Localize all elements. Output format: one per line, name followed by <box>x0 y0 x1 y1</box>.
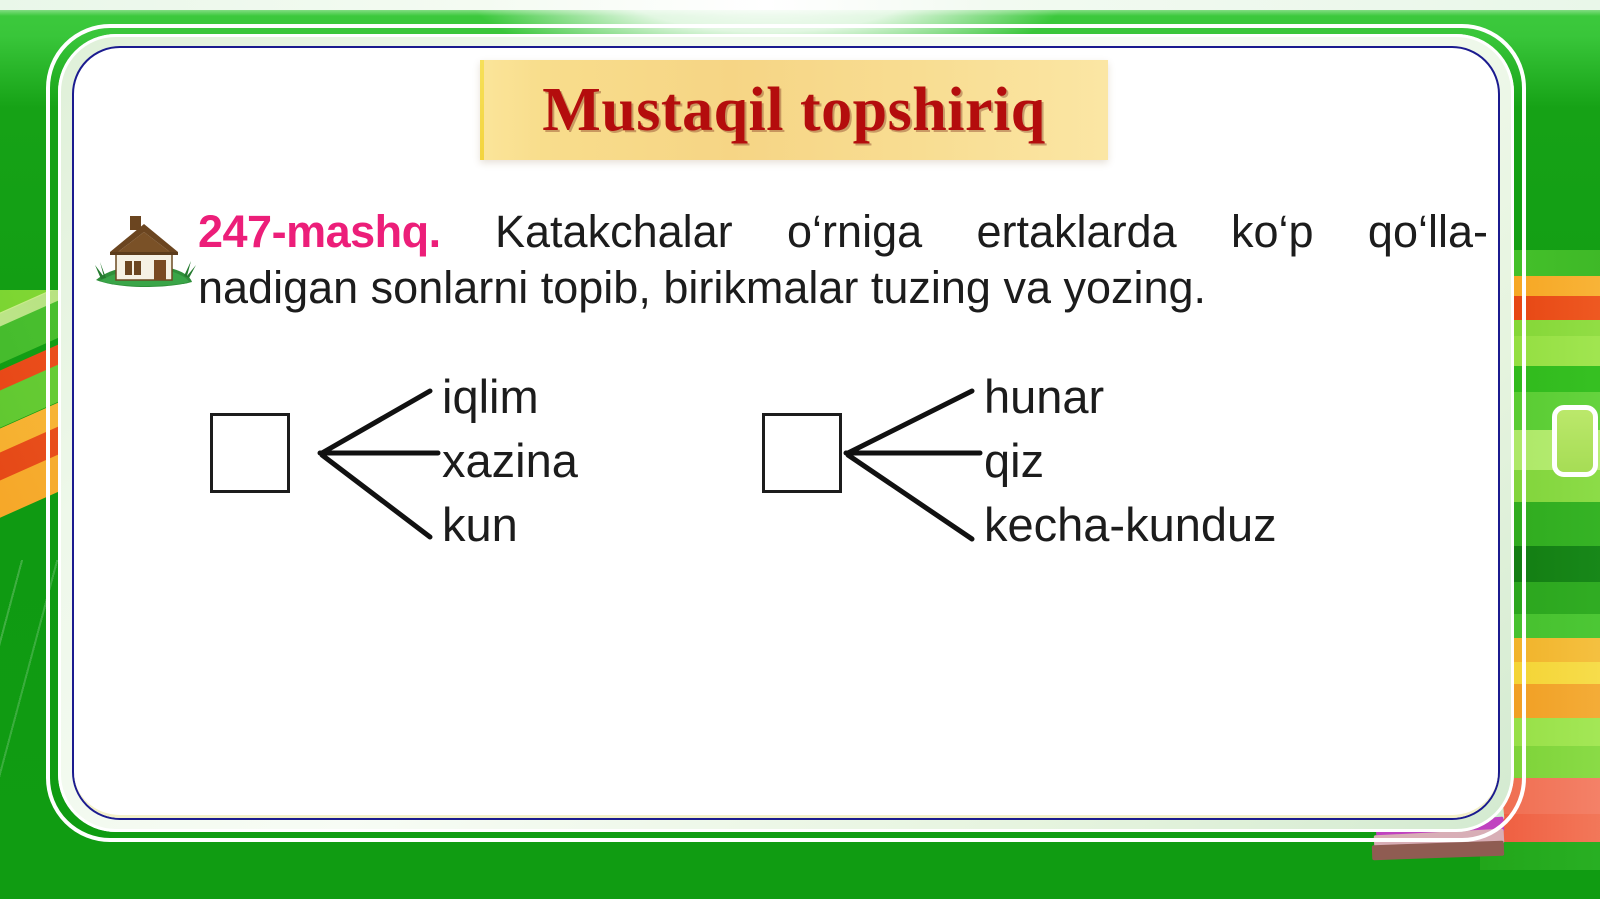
word-right-2: qiz <box>984 437 1044 484</box>
word-right-1: hunar <box>984 373 1104 420</box>
word-left-3: kun <box>442 501 518 548</box>
page-title: Mustaqil topshiriq <box>480 79 1108 141</box>
word-left-2: xazina <box>442 437 578 484</box>
slide-canvas: Mustaqil topshiriq <box>0 0 1600 899</box>
diagram-group-left: iqlim xazina kun <box>202 359 702 574</box>
exercise-line-2: nadigan sonlarni topib, birikmalar tuzin… <box>198 260 1488 316</box>
house-icon <box>92 208 196 294</box>
exercise-line-1: 247-mashq. Katakchalar o‘rniga ertaklard… <box>198 204 1488 260</box>
exercise-text-block: 247-mashq. Katakchalar o‘rniga ertaklard… <box>198 204 1488 316</box>
diagram-group-right: hunar qiz kecha-kunduz <box>754 359 1374 574</box>
fan-connector-left <box>202 359 452 574</box>
fan-connector-right <box>754 359 994 574</box>
exercise-number: 247-mashq. <box>198 206 441 257</box>
word-left-1: iqlim <box>442 373 539 420</box>
top-light-band <box>0 0 1600 10</box>
slide-content-card: Mustaqil topshiriq <box>72 46 1500 820</box>
green-badge-decoration <box>1552 405 1598 477</box>
exercise-line-1-text: Katakchalar o‘rniga ertaklarda ko‘p qo‘l… <box>495 206 1488 257</box>
word-right-3: kecha-kunduz <box>984 501 1277 548</box>
title-banner: Mustaqil topshiriq <box>480 60 1108 160</box>
